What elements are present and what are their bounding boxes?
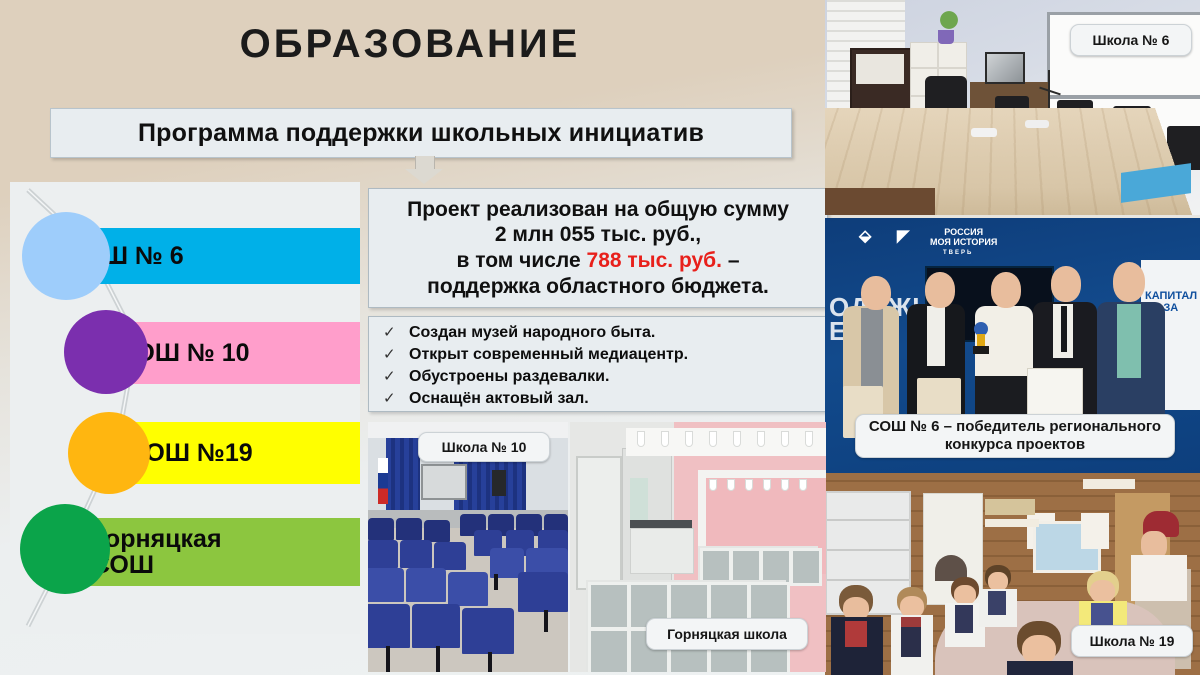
arrow-down-icon-stem [415,156,435,170]
seat [424,520,450,542]
child [977,565,1019,627]
photo-award-ceremony: ОДЁЖНЬ ЕЕ РОССИЯ МОЯ ИСТОРИЯ ТВЕРЬ ⬙ ◤ К… [825,218,1200,473]
loudspeaker [492,470,506,496]
coat-hook-icon [710,480,716,490]
cabinet-shelf [856,54,904,84]
seat-leg [386,646,390,672]
coat-hook-icon [728,480,734,490]
marker-set [1025,120,1049,128]
coat-hook-icon [782,480,788,490]
logo-city: ТВЕРЬ [943,250,973,257]
logo-arrow-icon: ◤ [897,228,909,246]
summary-line-1: Проект реализован на общую сумму [407,197,789,223]
seat [518,572,568,612]
achievement-label-2: Открыт современный медиацентр. [409,345,688,365]
caption-text: СОШ № 6 – победитель регионального конку… [869,418,1161,453]
seat [434,542,466,570]
seat [368,604,410,648]
seat [462,608,514,654]
cubby [588,582,630,630]
photo-classroom-school-6: Школа № 6 [825,0,1200,215]
check-icon: ✓ [383,345,409,365]
achievement-label-3: Обустроены раздевалки. [409,367,609,387]
coat-hook-icon [782,432,788,446]
caption-text: Школа № 10 [442,439,527,456]
trophy-icon [973,322,989,356]
achievement-item: ✓ Обустроены раздевалки. [383,367,825,387]
caption-text: Горняцкая школа [667,626,787,643]
coat-hook-icon [710,432,716,446]
school-circle-4 [20,504,110,594]
photo-auditorium-school-10: Школа № 10 [368,422,568,672]
coat-hook-icon [758,432,764,446]
cubby-shelf-upper [698,546,818,582]
achievement-label-1: Создан музей народного быта. [409,323,655,343]
coat-hook-icon [686,432,692,446]
logo-emblem: ⬙ [859,228,871,246]
seat [396,518,422,540]
caption-text: Школа № 19 [1090,633,1175,650]
achievement-item: ✓ Открыт современный медиацентр. [383,345,825,365]
studio-softbox-light [985,52,1025,84]
coat-rail-top [626,428,826,456]
wooden-floor [825,188,935,215]
coat-hook-icon [806,432,812,446]
school-circle-2 [64,310,148,394]
check-icon: ✓ [383,367,409,387]
window-curtain-right [1081,513,1109,549]
child [829,585,885,675]
page-title: ОБРАЗОВАНИЕ [0,22,820,67]
arrow-down-icon [405,169,443,184]
check-icon: ✓ [383,323,409,343]
summary-line-4: поддержка областного бюджета. [427,274,769,300]
logo-rossiya-moya-istoriya: РОССИЯ МОЯ ИСТОРИЯ [930,228,997,248]
seat [448,572,488,606]
seat [412,604,460,648]
summary-line-3: в том числе 788 тыс. руб. – [456,248,739,274]
coat-hook-icon [764,480,770,490]
seat [368,540,398,568]
caption-text: Школа № 6 [1093,32,1170,49]
photo-caption-school-10: Школа № 10 [418,432,550,462]
project-summary-box: Проект реализован на общую сумму 2 млн 0… [368,188,828,308]
seat [368,568,404,602]
photo-caption-award: СОШ № 6 – победитель регионального конку… [855,414,1175,458]
seat [368,518,394,540]
seat [400,540,432,568]
coat-hook-icon [662,432,668,446]
projection-screen [421,464,467,500]
flower-pot [938,30,954,44]
child [889,587,935,675]
door [576,456,622,590]
program-banner: Программа поддержки школьных инициатив [50,108,792,158]
russian-flag [378,458,388,504]
summary-line-3-pre: в том числе [456,249,586,272]
achievements-box: ✓ Создан музей народного быта. ✓ Открыт … [368,316,826,412]
summary-region-amount: 788 тыс. руб. [587,249,722,272]
coat-hook-icon [638,432,644,446]
achievement-item: ✓ Создан музей народного быта. [383,323,825,343]
summary-total-amount: 2 млн 055 тыс. руб., [495,222,701,248]
lace-shelf [985,519,1039,527]
slide-canvas: ОБРАЗОВАНИЕ Программа поддержки школьных… [0,0,1200,675]
achievement-item: ✓ Оснащён актовый зал. [383,389,825,409]
photo-caption-school-19: Школа № 19 [1071,625,1193,657]
cubby [588,628,630,672]
seat-leg [544,610,548,632]
program-banner-label: Программа поддержки школьных инициатив [138,119,704,148]
coat-hook-icon [746,480,752,490]
teacher-blouse [1131,555,1187,601]
lace-shelf [1083,479,1135,489]
seat-leg [436,646,440,672]
photo-caption-gornyatskaya: Горняцкая школа [646,618,808,650]
coat-hook-icon [734,432,740,446]
photo-cloakroom-gornyatskaya: Горняцкая школа [570,422,826,672]
achievement-label-4: Оснащён актовый зал. [409,389,589,409]
school-bar-4[interactable]: Горняцкая СОШ [74,518,360,586]
cubby [790,548,822,586]
school-circle-1 [22,212,110,300]
wall-plaque [985,499,1035,515]
summary-line-3-post: – [722,249,740,272]
seat-leg [488,652,492,672]
reception-desk [630,528,694,574]
child [1005,621,1075,675]
seat-leg [494,574,498,590]
schools-panel: СОШ № 6 СОШ № 10 СОШ №19 Горняцкая СОШ [10,182,360,634]
photo-museum-lesson-school-19: Школа № 19 [825,473,1200,675]
check-icon: ✓ [383,389,409,409]
seat [406,568,446,602]
school-circle-3 [68,412,150,494]
photo-caption-school-6: Школа № 6 [1070,24,1192,56]
coat-hook-icon [800,480,806,490]
marker-set [971,128,997,137]
